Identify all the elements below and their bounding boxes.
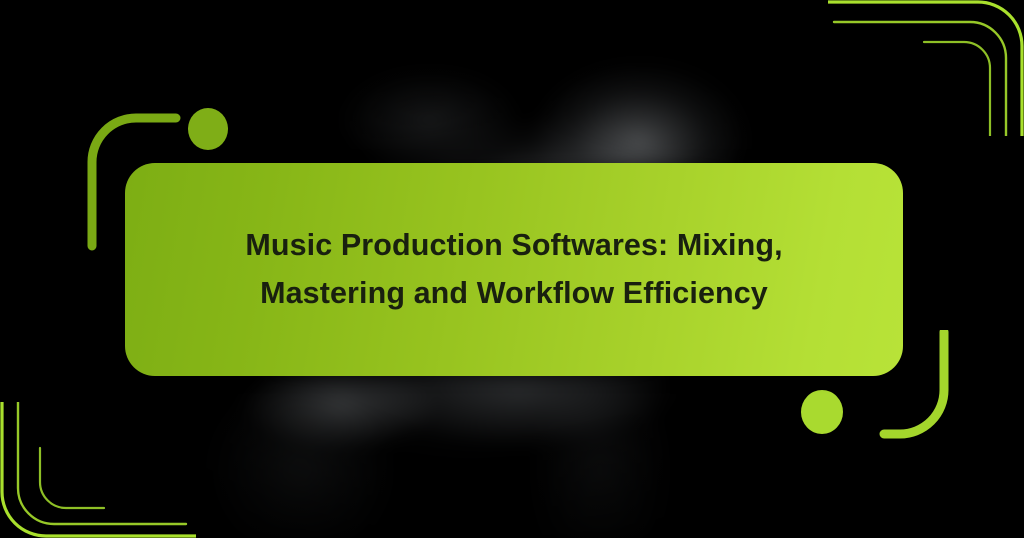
accent-dot-top-left-icon — [188, 108, 228, 150]
corner-lines-bottom-left-icon — [0, 402, 196, 538]
title-card: Music Production Softwares: Mixing, Mast… — [125, 163, 903, 376]
corner-lines-top-right-icon — [828, 0, 1024, 136]
page-title: Music Production Softwares: Mixing, Mast… — [183, 222, 844, 317]
accent-dot-bottom-right-icon — [801, 390, 843, 434]
hero-banner: Music Production Softwares: Mixing, Mast… — [0, 0, 1024, 538]
